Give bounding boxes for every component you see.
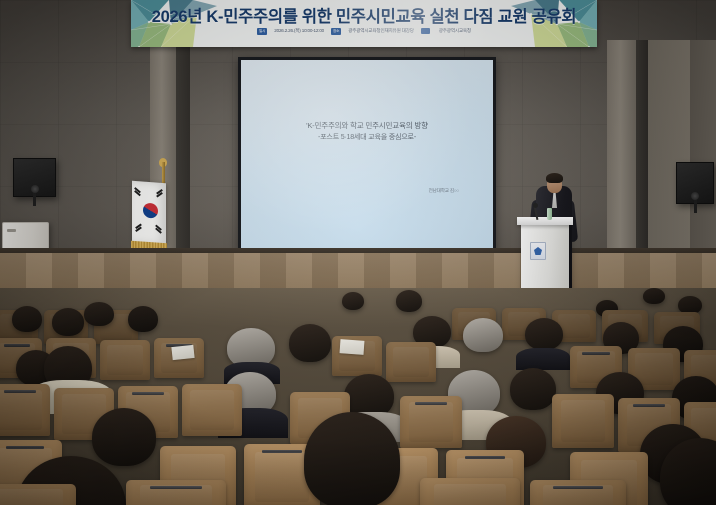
seat[interactable] bbox=[126, 480, 226, 505]
handout-paper[interactable] bbox=[171, 345, 194, 360]
attendee-head bbox=[52, 308, 84, 336]
seat-number-plate bbox=[132, 392, 163, 395]
seat[interactable] bbox=[0, 384, 50, 436]
attendee-head bbox=[510, 368, 556, 410]
event-banner: 2026년 K-민주주의를 위한 민주시민교육 실천 다짐 교원 공유회 일시 … bbox=[131, 0, 597, 47]
banner-place-chip: 장소 bbox=[331, 28, 341, 35]
lectern bbox=[521, 222, 569, 294]
attendee-head bbox=[128, 306, 158, 332]
seat-number-plate bbox=[415, 402, 447, 405]
speaker-bracket-left bbox=[33, 193, 36, 206]
flag-cloth bbox=[132, 181, 166, 245]
lectern-emblem bbox=[530, 242, 546, 260]
banner-datetime-chip: 일시 bbox=[257, 28, 267, 35]
speaker-cone-icon bbox=[31, 185, 39, 193]
seat-number-plate bbox=[633, 404, 665, 407]
banner-datetime: 2026.2.26.(목) 10:00-12:00 bbox=[274, 28, 324, 34]
seat-number-plate bbox=[465, 456, 506, 459]
attendee-head bbox=[92, 408, 156, 466]
projection-screen-frame: 'K-민주주의와 학교 민주시민교육의 방향 -포스트 5·18세대 교육을 중… bbox=[238, 57, 496, 253]
banner-place: 광주광역시교육청인재치유원 대강당 bbox=[348, 28, 414, 34]
seat[interactable] bbox=[400, 396, 462, 448]
seat-number-plate bbox=[4, 390, 35, 393]
wall-speaker-left bbox=[13, 158, 56, 197]
seat[interactable] bbox=[386, 342, 436, 382]
banner-host: 광주광역시교육청 bbox=[439, 28, 471, 34]
seat-number-plate bbox=[150, 486, 202, 489]
seat-number-plate bbox=[6, 446, 44, 449]
banner-subline: 일시 2026.2.26.(목) 10:00-12:00 장소 광주광역시교육청… bbox=[131, 28, 597, 35]
lectern-top bbox=[517, 217, 573, 225]
seat[interactable] bbox=[530, 480, 626, 505]
projection-screen: 'K-민주주의와 학교 민주시민교육의 방향 -포스트 5·18세대 교육을 중… bbox=[241, 60, 493, 250]
banner-title: 2026년 K-민주주의를 위한 민주시민교육 실천 다짐 교원 공유회 bbox=[131, 3, 597, 27]
attendee-head-foreground bbox=[304, 412, 400, 505]
attendee-head bbox=[84, 302, 114, 326]
seat[interactable] bbox=[182, 384, 242, 436]
attendee-head bbox=[643, 288, 665, 304]
attendee-head bbox=[289, 324, 331, 362]
presenter-hair bbox=[546, 173, 563, 183]
screen-light-sheen bbox=[241, 60, 493, 250]
seat-number-plate bbox=[582, 352, 609, 355]
seat-number-plate bbox=[553, 486, 603, 489]
attendee-head bbox=[12, 306, 42, 332]
seminar-photo: 2026년 K-민주주의를 위한 민주시민교육 실천 다짐 교원 공유회 일시 … bbox=[0, 0, 716, 505]
ac-brand-logo-icon bbox=[7, 229, 16, 232]
handout-paper[interactable] bbox=[340, 339, 365, 355]
education-office-logo-icon bbox=[421, 28, 430, 34]
seat[interactable] bbox=[420, 478, 520, 505]
attendee-head bbox=[342, 292, 364, 310]
water-bottle bbox=[547, 208, 552, 220]
attendee-head bbox=[525, 318, 563, 350]
seat-number-plate bbox=[262, 450, 302, 453]
attendee-head bbox=[396, 290, 422, 312]
attendee-shoulders bbox=[516, 348, 570, 370]
speaker-bracket-right bbox=[694, 200, 697, 213]
attendee-head bbox=[463, 318, 503, 352]
seat[interactable] bbox=[0, 484, 76, 505]
taeguk-circle-icon bbox=[143, 203, 158, 219]
speaker-cone-icon-right bbox=[691, 192, 699, 200]
audience-area bbox=[0, 288, 716, 505]
seat-number-plate bbox=[4, 344, 30, 347]
seat[interactable] bbox=[100, 340, 150, 380]
seat[interactable] bbox=[552, 394, 614, 448]
wall-speaker-right bbox=[676, 162, 714, 204]
microphone-icon bbox=[533, 203, 538, 208]
